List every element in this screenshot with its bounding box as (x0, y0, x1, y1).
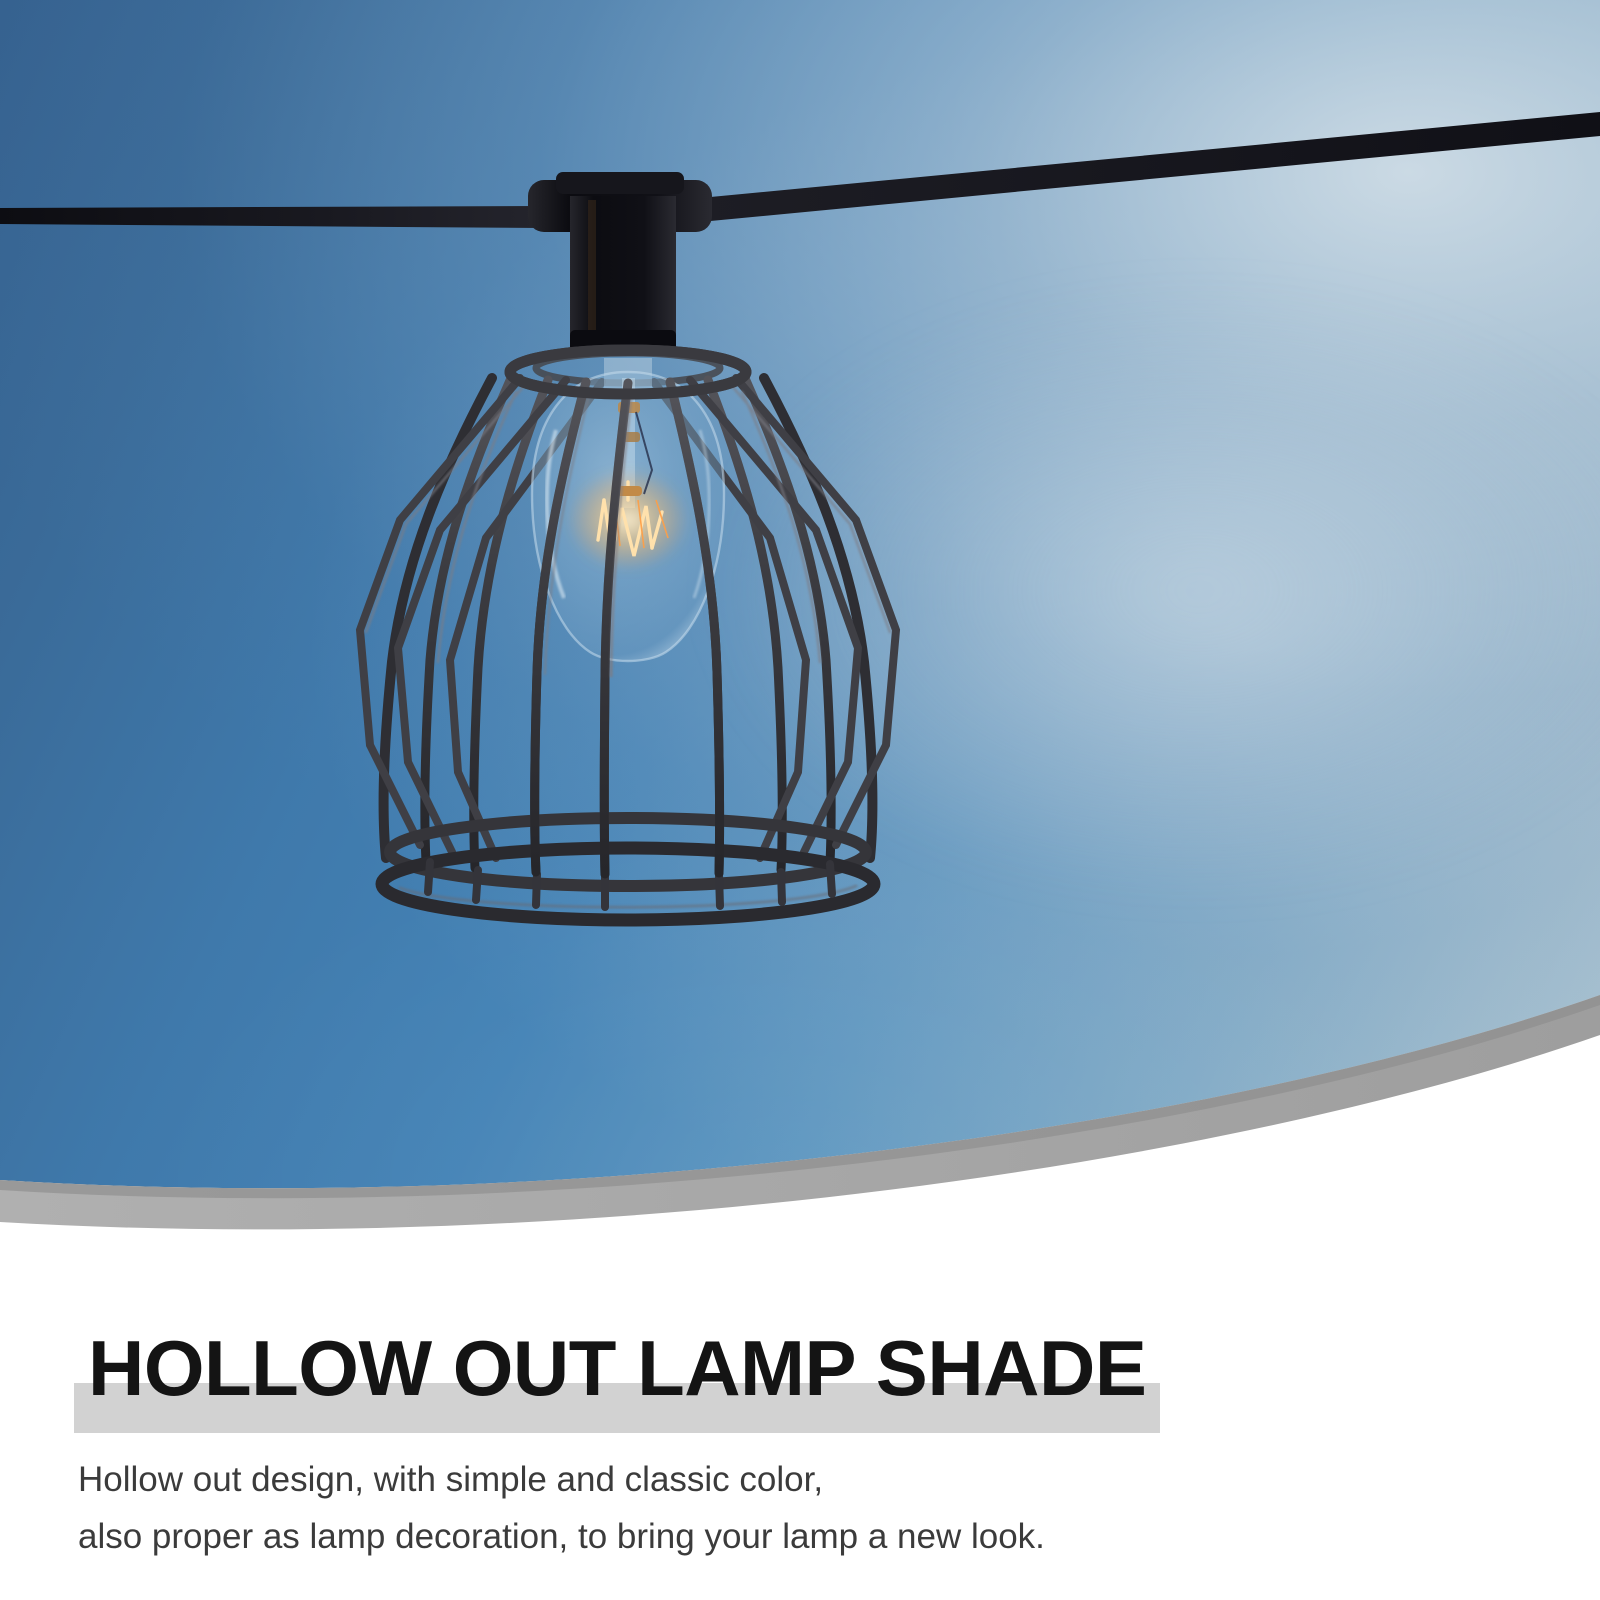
product-feature-card: HOLLOW OUT LAMP SHADE Hollow out design,… (0, 0, 1600, 1600)
photo-clip-region (0, 0, 1600, 1230)
copy-block: HOLLOW OUT LAMP SHADE Hollow out design,… (0, 1240, 1600, 1600)
description-line-2: also proper as lamp decoration, to bring… (78, 1509, 1045, 1566)
headline-group: HOLLOW OUT LAMP SHADE (0, 1285, 1600, 1395)
sky-lower-glow (0, 0, 1600, 1230)
product-description: Hollow out design, with simple and class… (78, 1452, 1045, 1565)
product-photo (0, 0, 1600, 1230)
page-title: HOLLOW OUT LAMP SHADE (88, 1329, 1146, 1407)
description-line-1: Hollow out design, with simple and class… (78, 1452, 1045, 1509)
